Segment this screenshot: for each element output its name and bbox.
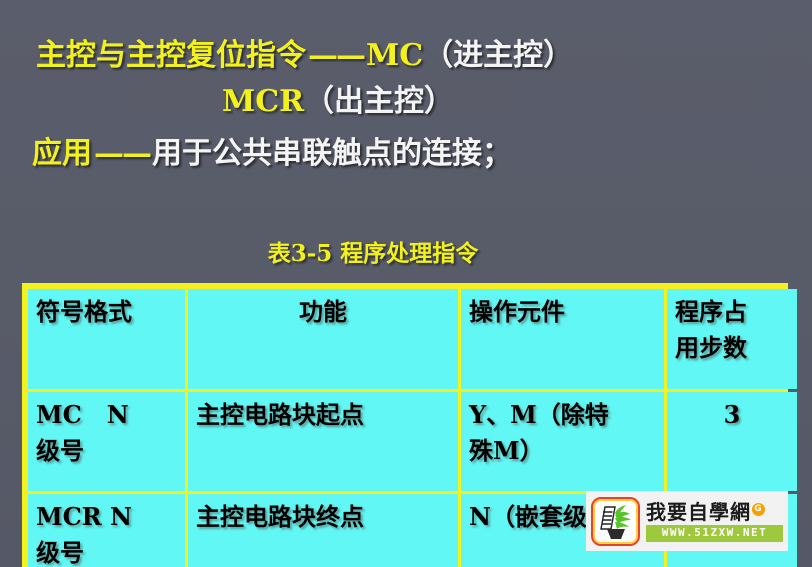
row1-operand-line2: 殊M） xyxy=(469,433,656,469)
heading-line1-mc: MC xyxy=(366,38,423,73)
row1-cell-steps: 3 xyxy=(667,392,797,491)
watermark-site-url: WWW.51ZXW.NET xyxy=(646,525,783,542)
heading-block: 主控与主控复位指令——MC（进主控） MCR（出主控） 应用——用于公共串联触点… xyxy=(0,34,812,176)
heading-line-3: 应用——用于公共串联触点的连接； xyxy=(0,132,812,176)
row1-function-line1: 主控电路块起点 xyxy=(196,397,450,433)
heading-line3-text: 用于公共串联触点的连接； xyxy=(152,136,512,171)
heading-line2-mcr: MCR xyxy=(222,84,304,119)
header-steps-line2: 用步数 xyxy=(675,330,789,366)
table-header-cell-symbol: 符号格式 xyxy=(28,289,185,389)
table-header-row: 符号格式 功能 操作元件 程 xyxy=(28,289,797,389)
row1-cell-symbol: MC N 级号 xyxy=(28,392,185,491)
watermark-badge-icon: G xyxy=(752,503,765,516)
table-row: MC N 级号 主控电路块起点 Y、M（除特 殊M） xyxy=(28,392,797,491)
row1-cell-function: 主控电路块起点 xyxy=(188,392,458,491)
row1-cell-operand: Y、M（除特 殊M） xyxy=(461,392,664,491)
watermark-text-block: 我要自學網G WWW.51ZXW.NET xyxy=(646,501,783,542)
heading-line1-title: 主控与主控复位指令 xyxy=(36,38,306,73)
heading-line-1: 主控与主控复位指令——MC（进主控） xyxy=(0,34,812,78)
table-caption-text: 表3-5 程序处理指令 xyxy=(268,234,479,268)
header-steps-line1: 程序占 xyxy=(675,294,789,330)
table-caption: 表3-5 程序处理指令 xyxy=(0,234,812,268)
watermark-site-name-text: 我要自學網 xyxy=(646,500,751,524)
header-function-line1: 功能 xyxy=(196,294,450,330)
row2-symbol-line1: MCR N xyxy=(36,499,177,535)
watermark-site-name: 我要自學網G xyxy=(646,501,783,523)
table-header-cell-operand: 操作元件 xyxy=(461,289,664,389)
header-operand-line1: 操作元件 xyxy=(469,294,656,330)
row1-steps-line1: 3 xyxy=(675,397,789,433)
heading-line3-dash: —— xyxy=(92,136,152,171)
table-header-cell-steps: 程序占 用步数 xyxy=(667,289,797,389)
row1-symbol-line1: MC N xyxy=(36,397,177,433)
row1-symbol-line2: 级号 xyxy=(36,433,177,469)
heading-line2-note: （出主控） xyxy=(304,84,454,119)
heading-line-2: MCR（出主控） xyxy=(0,80,812,124)
table-header-cell-function: 功能 xyxy=(188,289,458,389)
site-watermark: 我要自學網G WWW.51ZXW.NET xyxy=(586,491,788,551)
heading-line1-dash: —— xyxy=(306,38,366,73)
row2-symbol-line2: 级号 xyxy=(36,535,177,567)
heading-line1-note: （进主控） xyxy=(423,38,573,73)
slide-canvas: 主控与主控复位指令——MC（进主控） MCR（出主控） 应用——用于公共串联触点… xyxy=(0,0,812,567)
header-symbol-line1: 符号格式 xyxy=(36,294,177,330)
row2-cell-function: 主控电路块终点 xyxy=(188,494,458,567)
row2-cell-symbol: MCR N 级号 xyxy=(28,494,185,567)
heading-line3-label: 应用 xyxy=(32,136,92,171)
row1-operand-line1: Y、M（除特 xyxy=(469,397,656,433)
watermark-logo-icon xyxy=(591,497,640,546)
row2-function-line1: 主控电路块终点 xyxy=(196,499,450,535)
